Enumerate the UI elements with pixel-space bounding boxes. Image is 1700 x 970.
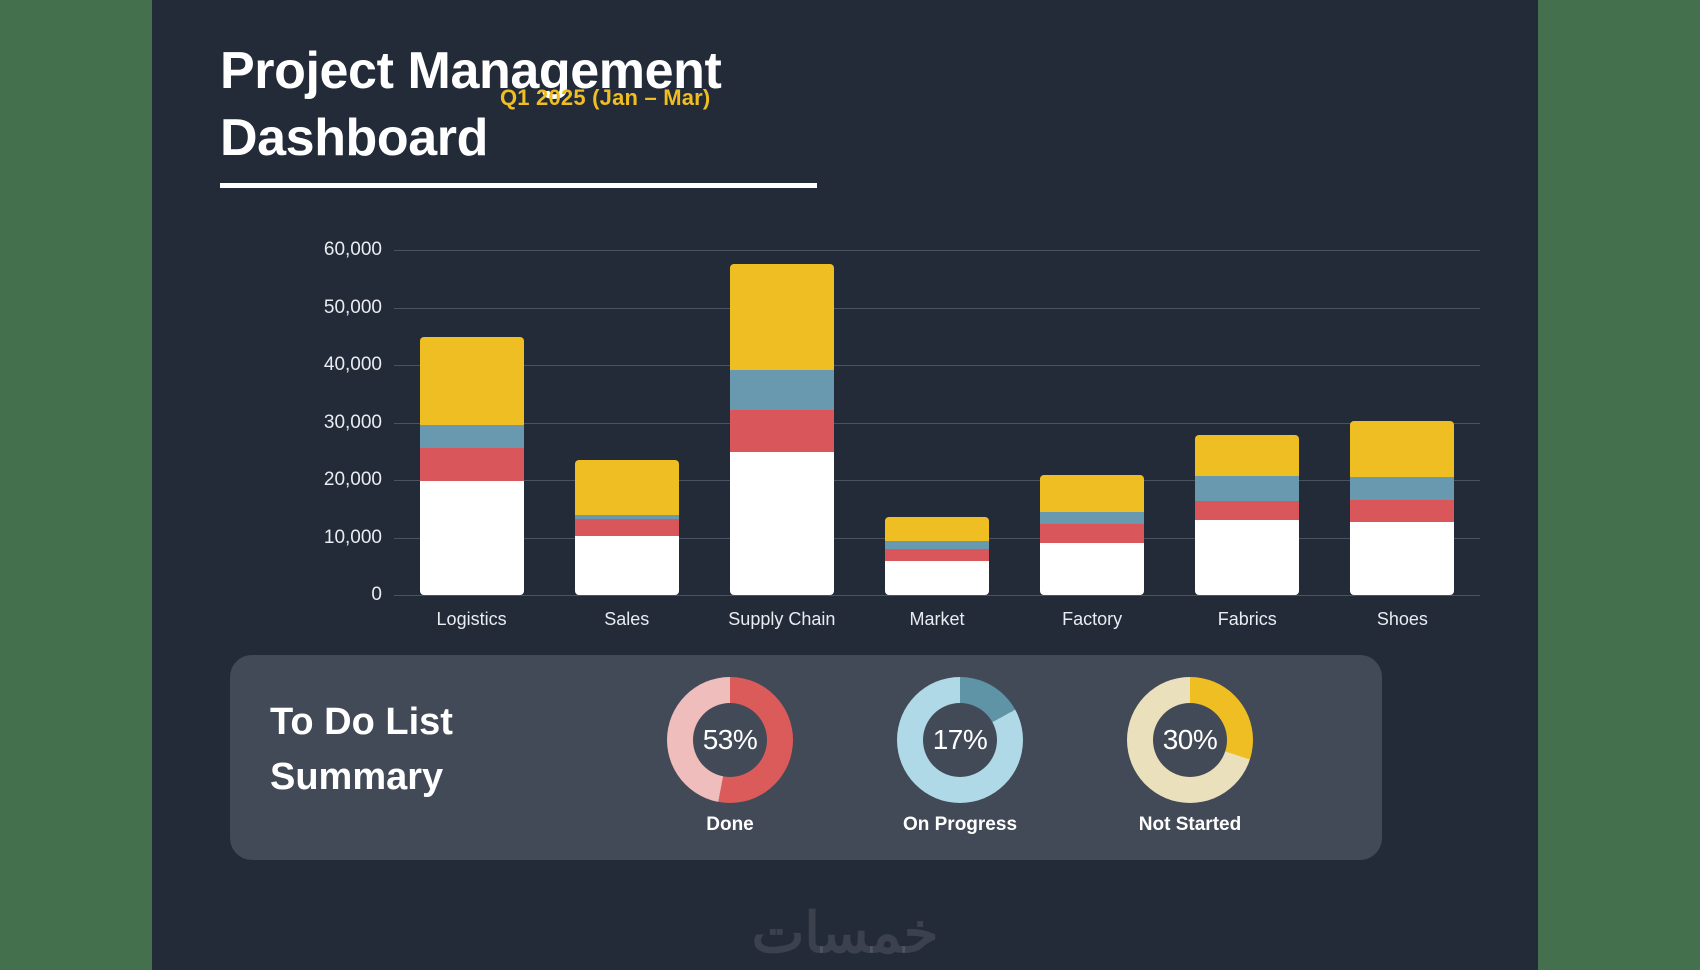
donut-not-started[interactable]: 30%Not Started (1120, 677, 1260, 836)
bar-segment-yellow (420, 337, 524, 425)
chart-bar[interactable] (1040, 475, 1144, 595)
y-axis-tick-label: 10,000 (324, 527, 382, 549)
bar-segment-red (885, 549, 989, 561)
x-axis-tick-label: Market (909, 609, 964, 630)
x-axis-tick-label: Fabrics (1218, 609, 1277, 630)
chart-gridline (394, 480, 1480, 481)
bar-segment-blue (730, 370, 834, 410)
watermark-text: خمسات (752, 900, 939, 966)
bar-segment-white (1350, 522, 1454, 595)
bar-segment-white (885, 561, 989, 595)
bar-segment-blue (1040, 512, 1144, 524)
chart-gridline (394, 308, 1480, 309)
x-axis-tick-label: Sales (604, 609, 649, 630)
donut-done[interactable]: 53%Done (660, 677, 800, 836)
bar-segment-red (730, 410, 834, 452)
chart-bar[interactable] (575, 460, 679, 595)
chart-bar[interactable] (1195, 435, 1299, 595)
stacked-bar-chart: 010,00020,00030,00040,00050,00060,000Log… (220, 230, 1500, 660)
donut-hole: 17% (923, 703, 997, 777)
bar-segment-yellow (575, 460, 679, 514)
donut-on-progress[interactable]: 17%On Progress (890, 677, 1030, 836)
donut-ring: 30% (1127, 677, 1253, 803)
bar-segment-white (1195, 520, 1299, 595)
donut-label: Done (660, 814, 800, 836)
chart-bar[interactable] (885, 517, 989, 595)
y-axis-tick-label: 60,000 (324, 239, 382, 261)
bar-segment-white (1040, 543, 1144, 595)
y-axis-tick-label: 30,000 (324, 412, 382, 434)
bar-segment-blue (885, 541, 989, 549)
chart-plot-area: 010,00020,00030,00040,00050,00060,000Log… (394, 250, 1480, 595)
bar-segment-yellow (1350, 421, 1454, 477)
bar-segment-red (575, 519, 679, 536)
bar-segment-red (420, 448, 524, 480)
period-subtitle: Q1 2025 (Jan – Mar) (500, 85, 710, 111)
x-axis-tick-label: Supply Chain (728, 609, 835, 630)
donut-value: 53% (703, 724, 758, 756)
bar-segment-yellow (730, 264, 834, 370)
x-axis-tick-label: Logistics (437, 609, 507, 630)
chart-bar[interactable] (1350, 421, 1454, 595)
chart-bar[interactable] (420, 337, 524, 595)
x-axis-tick-label: Shoes (1377, 609, 1428, 630)
donut-hole: 30% (1153, 703, 1227, 777)
bar-segment-yellow (885, 517, 989, 541)
chart-gridline (394, 423, 1480, 424)
bar-segment-yellow (1040, 475, 1144, 512)
title-underline (220, 183, 817, 188)
y-axis-tick-label: 0 (371, 584, 382, 606)
y-axis-tick-label: 50,000 (324, 297, 382, 319)
donut-hole: 53% (693, 703, 767, 777)
donut-value: 17% (933, 724, 988, 756)
bar-segment-blue (420, 425, 524, 448)
bar-segment-blue (1195, 476, 1299, 501)
donut-label: Not Started (1120, 814, 1260, 836)
bar-segment-white (575, 536, 679, 595)
chart-gridline (394, 365, 1480, 366)
chart-gridline (394, 250, 1480, 251)
todo-summary-card: To Do List Summary 53%Done17%On Progress… (230, 655, 1382, 860)
x-axis-tick-label: Factory (1062, 609, 1122, 630)
donut-label: On Progress (890, 814, 1030, 836)
chart-gridline (394, 595, 1480, 596)
bar-segment-white (420, 481, 524, 595)
summary-title: To Do List Summary (270, 695, 453, 805)
dashboard-slide: Project Management Dashboard Q1 2025 (Ja… (152, 0, 1538, 970)
bar-segment-red (1195, 501, 1299, 519)
donut-ring: 17% (897, 677, 1023, 803)
bar-segment-red (1350, 500, 1454, 522)
bar-segment-yellow (1195, 435, 1299, 476)
donut-value: 30% (1163, 724, 1218, 756)
bar-segment-blue (1350, 477, 1454, 499)
y-axis-tick-label: 20,000 (324, 469, 382, 491)
y-axis-tick-label: 40,000 (324, 354, 382, 376)
bar-segment-red (1040, 524, 1144, 543)
bar-segment-white (730, 452, 834, 595)
chart-bar[interactable] (730, 264, 834, 595)
donut-ring: 53% (667, 677, 793, 803)
